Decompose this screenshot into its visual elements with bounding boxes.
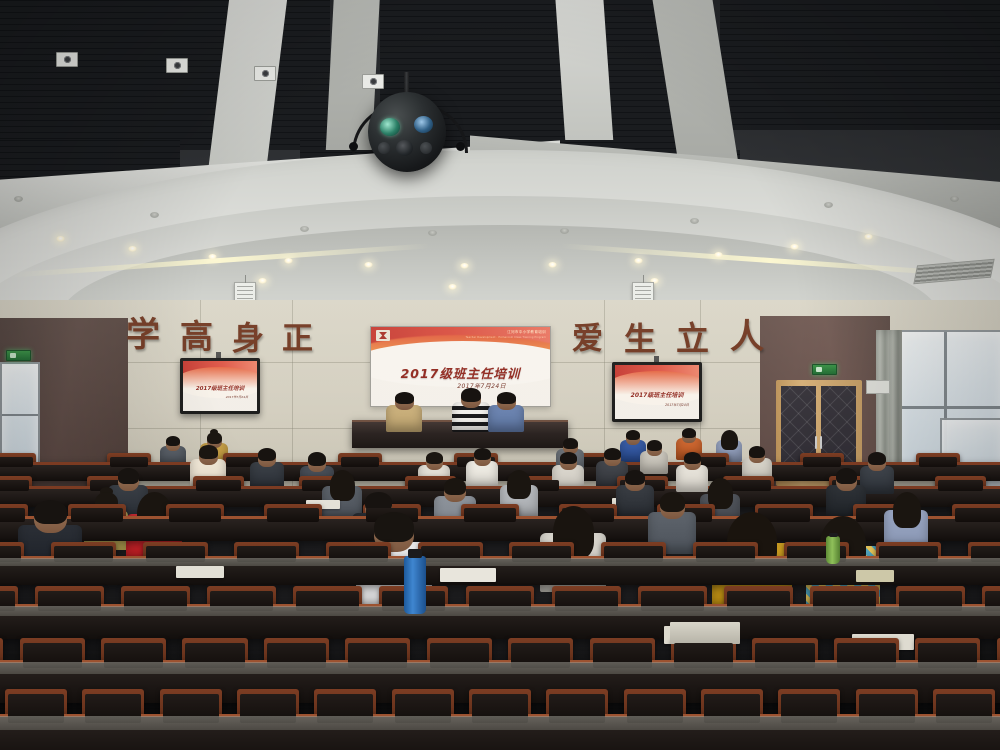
tv-slide-swoosh — [183, 367, 257, 398]
ceiling-downlight — [864, 234, 873, 240]
attendee-hair — [461, 388, 481, 402]
ceiling-downlight — [460, 263, 469, 269]
chair-seat[interactable] — [267, 508, 319, 522]
notebook — [856, 570, 894, 582]
attendee-hair — [749, 446, 765, 458]
ceiling-downlight — [690, 218, 699, 224]
attendee-hair — [682, 428, 696, 438]
wall-slogan-char-left-4: 正 — [282, 324, 313, 355]
camera-lens — [420, 142, 432, 154]
chair-seat[interactable] — [169, 508, 221, 522]
exit-sign-icon — [812, 364, 837, 375]
attendee-hair — [34, 500, 67, 524]
water-bottle-blue — [404, 556, 426, 614]
slide-title: 2017级班主任培训 — [371, 363, 550, 382]
right-wall-tv: 2017级班主任培训 2017年7月24日 — [612, 362, 702, 422]
attendee-row2-a — [250, 448, 284, 490]
chair-seat[interactable] — [938, 480, 983, 491]
wall-slogan-char-right-4: 人 — [730, 320, 764, 354]
left-wall-tv: 2017级班主任培训 2017年7月24日 — [180, 358, 260, 414]
ceiling-downlight — [548, 262, 557, 268]
meeting-room-photo: 学 高 身 正 爱 生 立 人 江河市中小学教育培训 Teacher Devel… — [0, 0, 1000, 750]
attendee-hair — [395, 392, 414, 404]
door-handle[interactable] — [815, 436, 817, 449]
ceiling-camera-icon — [368, 92, 446, 172]
ceiling-light-fixture — [56, 52, 78, 67]
ceiling-downlight — [150, 212, 159, 218]
slide-logo-icon — [376, 330, 390, 341]
desk-writing-surface — [0, 558, 1000, 566]
water-bottle-blue-cap — [408, 549, 422, 558]
camera-lens — [378, 142, 390, 154]
ceiling-downlight — [14, 196, 23, 202]
slide-org-subline: Teacher Development · Homeroom Class Tra… — [466, 336, 546, 339]
chair-seat[interactable] — [0, 457, 33, 467]
ceiling-downlight — [284, 258, 293, 264]
attendee-hair — [308, 452, 326, 466]
ceiling-beam — [555, 0, 613, 140]
chair-seat[interactable] — [0, 480, 29, 491]
water-bottle-green-cap — [829, 533, 838, 537]
ceiling-downlight — [634, 258, 643, 264]
attendee-hair — [836, 468, 857, 484]
attendee-hair — [497, 392, 516, 404]
ceiling-downlight — [560, 228, 569, 234]
camera-lens — [380, 118, 400, 136]
attendee-hair — [474, 448, 491, 460]
attendee-hair — [604, 448, 621, 460]
camera-yoke-joint — [349, 142, 358, 151]
window-mullion — [2, 414, 38, 416]
ceiling-downlight — [128, 246, 137, 252]
ceiling-downlight — [950, 196, 959, 202]
attendee-hair — [684, 452, 701, 464]
ceiling-light-fixture — [254, 66, 276, 81]
wall-notice-board — [866, 380, 890, 394]
tv-slide-date: 2017年7月24日 — [665, 402, 689, 407]
presenter-right — [488, 392, 524, 432]
wall-slogan-char-left-3: 身 — [232, 322, 264, 354]
attendee-hair — [507, 470, 531, 499]
attendee-hair — [374, 512, 414, 542]
attendee-hair — [647, 440, 662, 451]
ceiling-acoustic-panel — [720, 0, 1000, 130]
ceiling-downlight — [824, 202, 833, 208]
attendee-hair — [207, 432, 222, 444]
attendee-hair — [868, 452, 886, 465]
handout-paper — [176, 566, 224, 578]
ceiling-downlight — [56, 236, 65, 242]
camera-yoke-joint — [456, 142, 465, 151]
ceiling-downlight — [300, 226, 309, 232]
ceiling-downlight — [428, 230, 437, 236]
tv-slide-title: 2017级班主任培训 — [183, 384, 257, 392]
chair-seat[interactable] — [955, 508, 1000, 522]
tv-slide-swoosh — [615, 371, 699, 404]
chair-seat[interactable] — [919, 457, 957, 467]
window-mullion — [898, 406, 1000, 409]
ceiling-downlight — [448, 284, 457, 290]
attendee-hair — [563, 438, 578, 449]
ceiling-downlight — [258, 278, 267, 284]
attendee-hair — [426, 452, 443, 464]
ceiling-downlight — [714, 252, 723, 258]
desk-writing-surface — [0, 716, 1000, 730]
presenter-center — [452, 388, 490, 432]
attendee-row1-b — [640, 440, 668, 474]
ceiling-light-fixture — [362, 74, 384, 89]
camera-lens — [396, 140, 413, 156]
chair-seat[interactable] — [110, 457, 148, 467]
tv-screen-surface: 2017级班主任培训 2017年7月24日 — [183, 361, 257, 411]
tv-slide-date: 2017年7月24日 — [226, 395, 248, 399]
chair-seat[interactable] — [341, 457, 379, 467]
attendee-hair — [626, 430, 640, 440]
handout-paper — [440, 568, 496, 582]
wall-slogan-char-right-1: 爱 — [572, 324, 603, 355]
ceiling-light-fixture — [166, 58, 188, 73]
camera-lens — [414, 116, 433, 133]
attendee-hair — [560, 452, 577, 464]
wall-slogan-char-left-2: 高 — [180, 320, 213, 353]
chair-seat[interactable] — [464, 508, 516, 522]
tv-screen-surface: 2017级班主任培训 2017年7月24日 — [615, 365, 699, 419]
exit-sign-icon — [6, 350, 31, 361]
attendee-hair — [199, 445, 218, 459]
ceiling-downlight — [208, 254, 217, 260]
chair-seat[interactable] — [196, 480, 241, 491]
wall-slogan-char-right-3: 立 — [676, 322, 709, 355]
tv-slide-title: 2017级班主任培训 — [615, 390, 699, 399]
attendee-hair — [721, 430, 738, 450]
water-bottle-green — [826, 536, 840, 564]
attendee-hair — [258, 448, 276, 461]
wall-slogan-char-right-2: 生 — [624, 323, 656, 355]
attendee-hair — [444, 478, 466, 495]
attendee-hair — [625, 470, 645, 485]
presenter-left — [386, 392, 422, 432]
attendee-hair — [660, 492, 685, 512]
desk-writing-surface — [0, 606, 1000, 616]
wall-slogan-char-left-1: 学 — [126, 318, 160, 352]
attendee-hair — [166, 436, 180, 446]
ceiling-downlight — [364, 262, 373, 268]
door-handle[interactable] — [820, 436, 822, 449]
chair-seat[interactable] — [803, 457, 841, 467]
slide-org-line: 江河市中小学教育培训 — [507, 330, 546, 335]
notebook — [670, 622, 740, 644]
ceiling-downlight — [790, 244, 799, 250]
attendee-hair — [118, 468, 139, 484]
desk-writing-surface — [0, 662, 1000, 674]
attendee-hair — [893, 492, 921, 528]
